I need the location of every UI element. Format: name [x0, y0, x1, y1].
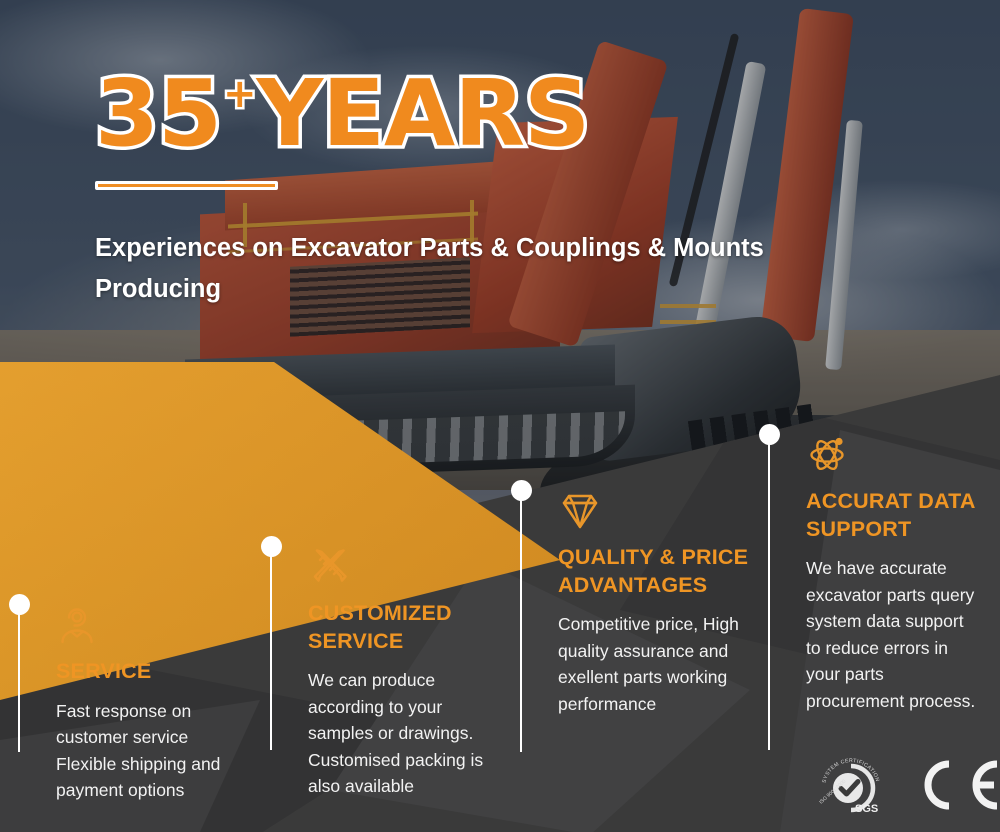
sgs-iso-badge-icon: SYSTEM CERTIFICATION ISO 9001:2000 SGS [815, 752, 887, 818]
feature-title: SERVICE [56, 658, 248, 686]
feature-quality-price: QUALITY & PRICE ADVANTAGES Competitive p… [520, 490, 750, 717]
feature-body: We can produce according to your samples… [308, 667, 500, 800]
ce-mark-icon [915, 756, 1000, 814]
connector-line [768, 434, 770, 750]
diamond-icon [558, 490, 602, 530]
feature-body: Competitive price, High quality assuranc… [558, 611, 750, 717]
pencil-ruler-icon [308, 546, 352, 586]
certification-badges: SYSTEM CERTIFICATION ISO 9001:2000 SGS [815, 752, 1000, 818]
promo-banner: 35 + YEARS Experiences on Excavator Part… [0, 0, 1000, 832]
connector-dot [511, 480, 532, 501]
headset-support-icon [56, 604, 100, 644]
connector-dot [9, 594, 30, 615]
feature-body: Fast response on customer service Flexib… [56, 698, 248, 804]
feature-accurate-data-support: ACCURAT DATA SUPPORT We have accurate ex… [768, 434, 983, 715]
connector-dot [759, 424, 780, 445]
feature-service: SERVICE Fast response on customer servic… [18, 604, 248, 804]
feature-title: ACCURAT DATA SUPPORT [806, 488, 983, 543]
feature-list: SERVICE Fast response on customer servic… [0, 0, 1000, 832]
connector-line [18, 604, 20, 752]
connector-line [520, 490, 522, 752]
feature-customized-service: CUSTOMIZED SERVICE We can produce accord… [270, 546, 500, 800]
feature-title: QUALITY & PRICE ADVANTAGES [558, 544, 750, 599]
svg-text:SGS: SGS [855, 803, 878, 815]
feature-body: We have accurate excavator parts query s… [806, 555, 983, 715]
connector-line [270, 546, 272, 750]
atom-icon [806, 434, 850, 474]
feature-title: CUSTOMIZED SERVICE [308, 600, 500, 655]
connector-dot [261, 536, 282, 557]
